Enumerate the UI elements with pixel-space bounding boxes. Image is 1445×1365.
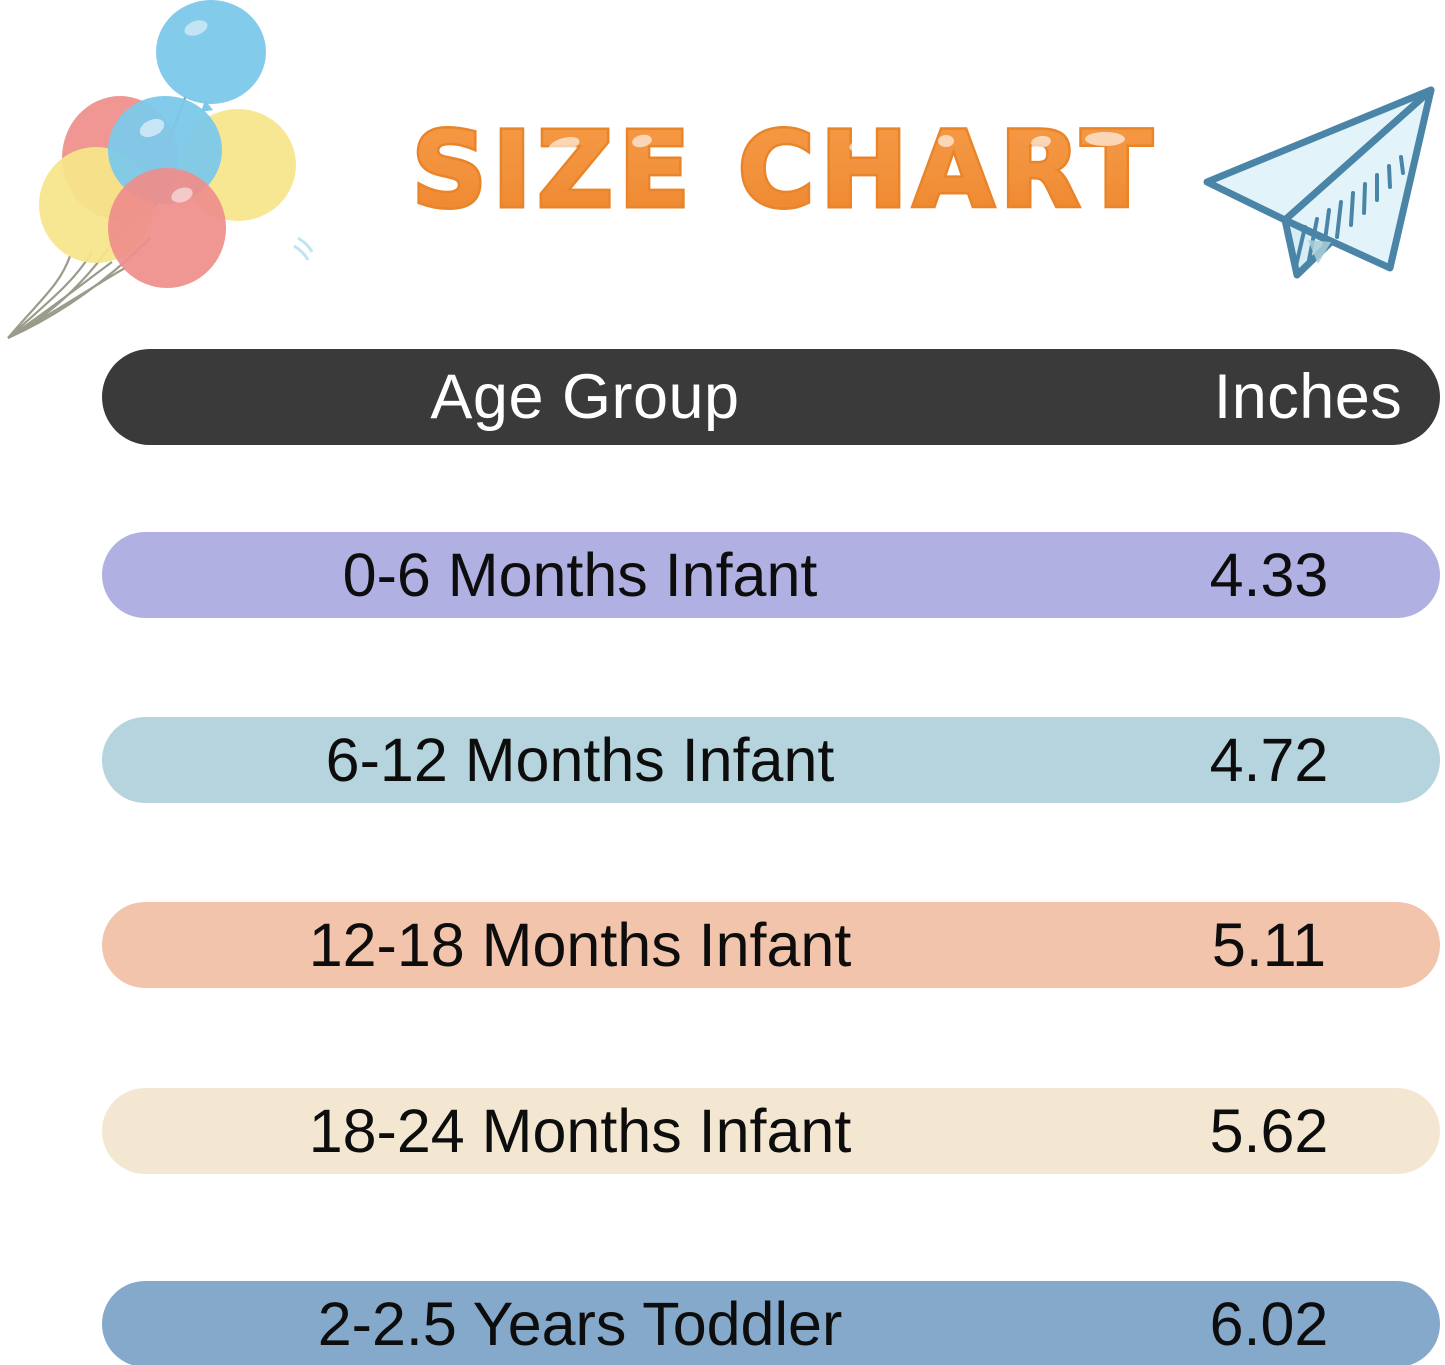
table-row: 0-6 Months Infant 4.33 [102, 532, 1440, 618]
cell-age-group: 6-12 Months Infant [146, 725, 1014, 795]
cell-age-group: 0-6 Months Infant [146, 540, 1014, 610]
table-header-row: Age Group Inches [102, 349, 1440, 445]
cell-inches: 5.62 [1054, 1096, 1445, 1166]
page-title-text: SIZE CHART [412, 109, 1158, 231]
size-chart-page: SIZE CHART [0, 0, 1445, 1365]
cell-inches: 5.11 [1054, 910, 1445, 980]
paper-airplane-icon [1185, 72, 1445, 297]
column-header-age-group: Age Group [150, 361, 1020, 433]
column-header-inches: Inches [1074, 361, 1445, 433]
table-row: 18-24 Months Infant 5.62 [102, 1088, 1440, 1174]
table-row: 12-18 Months Infant 5.11 [102, 902, 1440, 988]
cell-age-group: 2-2.5 Years Toddler [146, 1289, 1014, 1359]
balloon-bunch-icon [0, 0, 330, 345]
page-title: SIZE CHART [390, 108, 1180, 233]
cell-inches: 6.02 [1054, 1289, 1445, 1359]
cell-age-group: 18-24 Months Infant [146, 1096, 1014, 1166]
cell-inches: 4.33 [1054, 540, 1445, 610]
table-row: 2-2.5 Years Toddler 6.02 [102, 1281, 1440, 1365]
table-row: 6-12 Months Infant 4.72 [102, 717, 1440, 803]
cell-inches: 4.72 [1054, 725, 1445, 795]
cell-age-group: 12-18 Months Infant [146, 910, 1014, 980]
